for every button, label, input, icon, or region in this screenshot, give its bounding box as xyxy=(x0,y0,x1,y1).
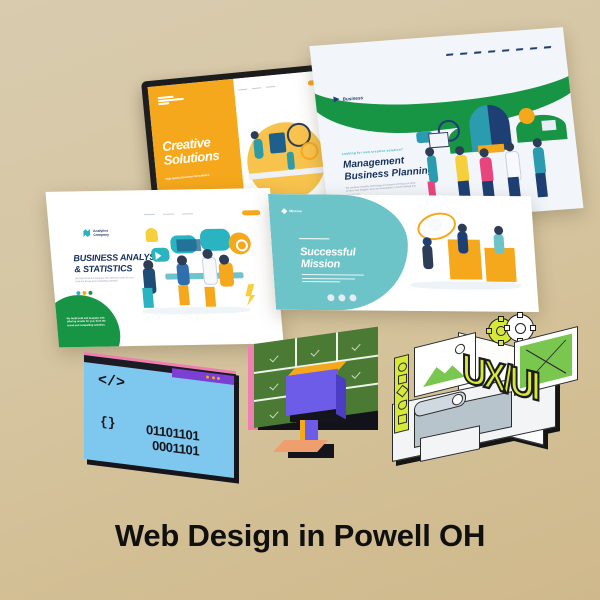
arrow-icon xyxy=(333,96,340,102)
mission-logo: Mission xyxy=(281,208,302,214)
figure-head xyxy=(532,138,542,148)
chat-bubble-icon xyxy=(199,229,231,251)
green-circle-text: We build bold and bespoke web offering r… xyxy=(66,316,111,327)
code-tag-glyph: </> xyxy=(98,372,125,392)
tool-palette[interactable] xyxy=(394,354,409,434)
figure-head xyxy=(219,255,230,265)
figure-person xyxy=(455,155,470,184)
mission-divider xyxy=(299,238,329,240)
figure-head xyxy=(494,226,504,235)
business-analysis-logo: Analytics Company xyxy=(83,229,109,237)
page-title: Web Design in Powell OH xyxy=(0,518,600,554)
creative-subtext: High Quality Business Consultation xyxy=(165,173,217,182)
mission-headline: Successful Mission xyxy=(300,246,357,270)
figure-person xyxy=(253,138,264,159)
document-icon xyxy=(428,132,450,148)
chart-bars xyxy=(269,132,287,153)
business-analysis-cta-button[interactable] xyxy=(242,210,260,215)
ground-shadow xyxy=(142,306,251,315)
management-eyebrow: Looking for new creative solution? xyxy=(342,147,404,156)
code-brace-glyph: {} xyxy=(100,414,116,431)
figure-person xyxy=(457,232,469,254)
business-analysis-nav[interactable] xyxy=(144,210,261,217)
paper-icon xyxy=(541,120,556,131)
chair xyxy=(178,285,190,305)
business-analysis-subtext: We build bold and bespoke web offering r… xyxy=(75,276,138,284)
figure-person xyxy=(202,257,218,285)
figure-head xyxy=(177,255,188,265)
business-analysis-screen: Analytics Company BUSINESS ANALYSIS & ST… xyxy=(45,188,283,347)
gear-icon xyxy=(235,239,248,251)
top-dashes xyxy=(446,46,556,56)
hero-banner: Creative Solutions High Quality Business… xyxy=(0,0,600,600)
figure-head xyxy=(143,260,154,270)
mission-subtext xyxy=(302,274,365,286)
creative-nav[interactable] xyxy=(238,79,324,92)
figure-head xyxy=(202,249,213,259)
green-monitor-illustration xyxy=(248,344,384,472)
mountain-icon xyxy=(423,355,465,387)
mission-dots xyxy=(327,294,357,301)
uxui-laptop-illustration: UX/UI xyxy=(378,312,584,488)
figure-person xyxy=(218,262,234,286)
figure-person xyxy=(176,263,190,285)
figure-head xyxy=(458,224,468,233)
file-box xyxy=(286,369,338,416)
successful-mission-screen: Mission Successful Mission xyxy=(268,194,539,312)
figure-head xyxy=(422,237,432,246)
play-icon xyxy=(155,252,162,260)
figure-person xyxy=(532,147,546,176)
chair xyxy=(142,288,154,308)
slider-knob[interactable] xyxy=(452,393,463,407)
chart-icon xyxy=(176,239,201,251)
plant-icon xyxy=(244,284,256,306)
creative-logo-icon xyxy=(158,95,184,102)
management-headline: Management Business Planning xyxy=(342,153,434,184)
chair xyxy=(204,287,216,307)
figure-person xyxy=(479,157,494,184)
code-window-illustration: </> {} 01101101 0001101 xyxy=(84,352,236,479)
figure-person xyxy=(422,245,434,269)
creative-headline: Creative Solutions xyxy=(162,135,220,168)
file-box-side xyxy=(336,374,346,419)
leaf-icon xyxy=(83,229,91,237)
figure-leg xyxy=(535,173,548,198)
diamond-icon xyxy=(281,208,287,214)
ground-shadow xyxy=(410,281,521,290)
figure-person xyxy=(493,234,504,254)
figure-person xyxy=(427,155,439,183)
lightbulb-icon xyxy=(145,228,158,242)
planet-icon xyxy=(428,217,443,231)
